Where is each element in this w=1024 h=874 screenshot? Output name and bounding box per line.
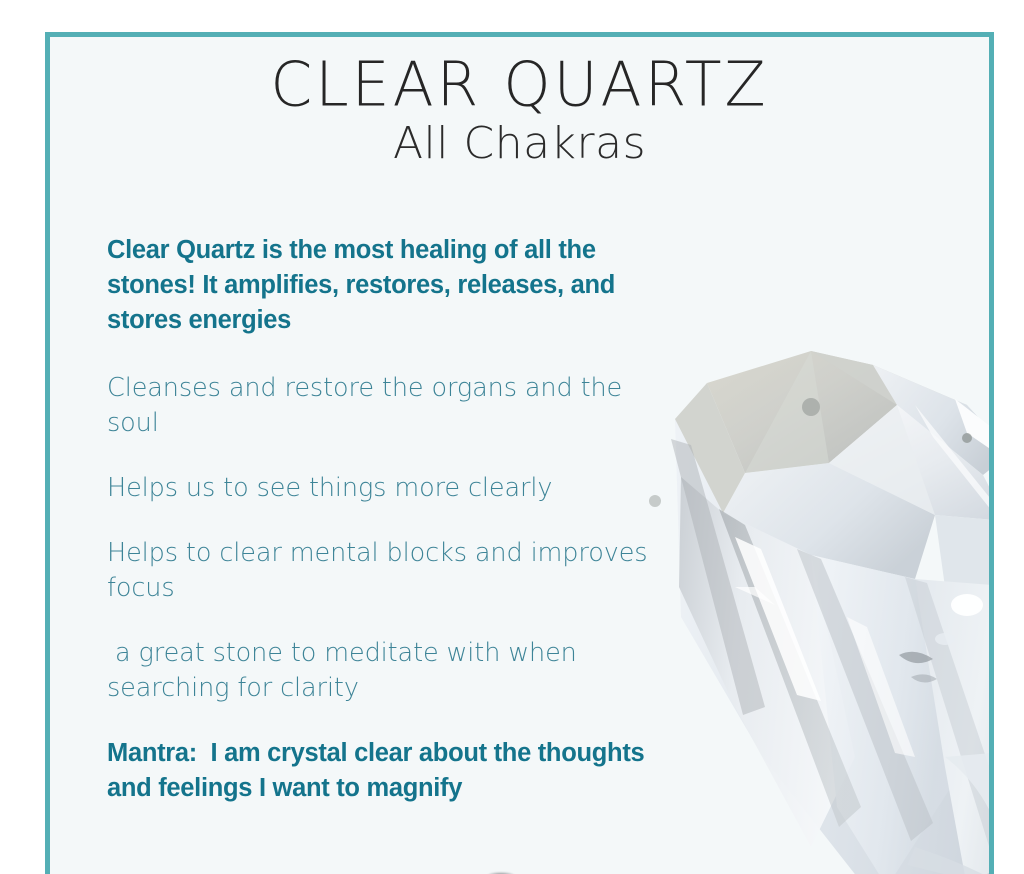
paragraph-meditate: a great stone to meditate with when sear… bbox=[107, 636, 652, 706]
paragraph-focus: Helps to clear mental blocks and improve… bbox=[107, 536, 652, 606]
page-subtitle: All Chakras bbox=[50, 115, 989, 167]
paragraph-cleanses: Cleanses and restore the organs and the … bbox=[107, 371, 652, 441]
crystal-body bbox=[649, 351, 994, 874]
paragraph-lead: Clear Quartz is the most healing of all … bbox=[107, 233, 652, 338]
crystal-description-list: Clear Quartz is the most healing of all … bbox=[107, 233, 652, 806]
page-title: CLEAR QUARTZ bbox=[50, 36, 989, 116]
poster-header: CLEAR QUARTZ All Chakras bbox=[50, 37, 989, 167]
paragraph-mantra: Mantra: I am crystal clear about the tho… bbox=[107, 736, 652, 806]
clear-quartz-crystal-image bbox=[615, 287, 994, 874]
crystal-info-card: CLEAR QUARTZ All Chakras Clear Quartz is… bbox=[45, 32, 994, 874]
poster-page: CLEAR QUARTZ All Chakras Clear Quartz is… bbox=[0, 0, 1024, 874]
paragraph-clarity: Helps us to see things more clearly bbox=[107, 471, 652, 506]
